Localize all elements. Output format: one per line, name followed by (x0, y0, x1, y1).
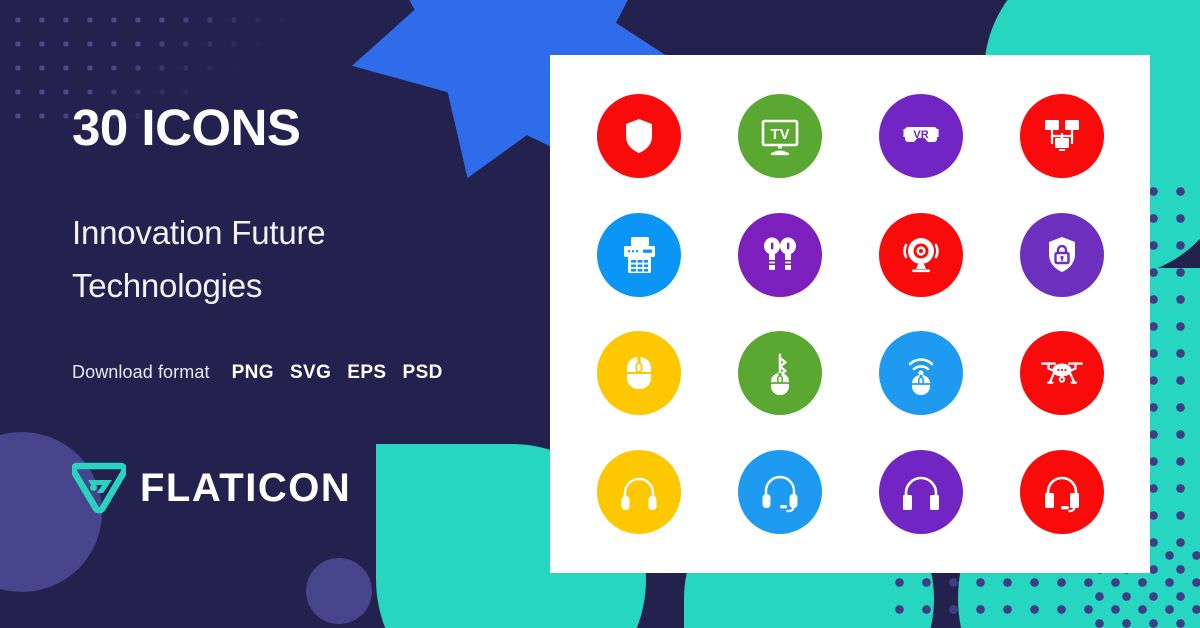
printer-fax-icon[interactable] (597, 213, 681, 297)
icon-preview-panel: TV VR (550, 55, 1150, 573)
tv-monitor-icon[interactable]: TV (738, 94, 822, 178)
icon-cell[interactable] (991, 314, 1132, 433)
icon-cell[interactable] (850, 433, 991, 552)
icon-cell[interactable] (850, 196, 991, 315)
icon-cell[interactable] (991, 433, 1132, 552)
webcam-icon[interactable] (879, 213, 963, 297)
headphones-purple-icon[interactable] (879, 450, 963, 534)
icon-cell[interactable] (991, 196, 1132, 315)
headphones-icon[interactable] (597, 450, 681, 534)
download-format-row: Download format PNG SVG EPS PSD (72, 362, 443, 384)
format-eps[interactable]: EPS (347, 362, 386, 384)
icon-cell[interactable]: TV (709, 77, 850, 196)
shield-lock-icon[interactable] (1020, 213, 1104, 297)
vr-headset-icon[interactable]: VR (879, 94, 963, 178)
earbuds-icon[interactable] (738, 213, 822, 297)
headset-support-icon[interactable] (1020, 450, 1104, 534)
icon-cell[interactable] (991, 77, 1132, 196)
icon-cell[interactable]: VR (850, 77, 991, 196)
icon-cell[interactable] (568, 314, 709, 433)
download-format-label: Download format (72, 362, 210, 383)
page-title: 30 ICONS (72, 102, 300, 153)
page-subtitle: Innovation Future Technologies (72, 206, 472, 313)
hero-text-column: 30 ICONS Innovation Future Technologies … (72, 0, 542, 628)
icon-cell[interactable] (709, 314, 850, 433)
icon-cell[interactable] (568, 196, 709, 315)
icon-cell[interactable] (709, 433, 850, 552)
flaticon-wordmark: FLATICON (140, 468, 351, 508)
drone-icon[interactable] (1020, 331, 1104, 415)
icon-cell[interactable] (568, 433, 709, 552)
svg-text:TV: TV (770, 126, 789, 143)
format-psd[interactable]: PSD (403, 362, 443, 384)
icon-cell[interactable] (709, 196, 850, 315)
svg-text:VR: VR (913, 129, 928, 141)
bluetooth-mouse-icon[interactable] (738, 331, 822, 415)
icon-cell[interactable] (568, 77, 709, 196)
format-svg[interactable]: SVG (290, 362, 331, 384)
poster-canvas: 30 ICONS Innovation Future Technologies … (0, 0, 1200, 628)
shield-icon[interactable] (597, 94, 681, 178)
format-png[interactable]: PNG (232, 362, 274, 384)
headset-mic-icon[interactable] (738, 450, 822, 534)
network-lan-icon[interactable] (1020, 94, 1104, 178)
wireless-mouse-icon[interactable] (879, 331, 963, 415)
icon-cell[interactable] (850, 314, 991, 433)
flaticon-mark-icon (72, 462, 126, 514)
computer-mouse-icon[interactable] (597, 331, 681, 415)
icon-grid: TV VR (550, 55, 1150, 573)
flaticon-logo[interactable]: FLATICON (72, 462, 351, 514)
download-format-list: PNG SVG EPS PSD (232, 362, 443, 384)
